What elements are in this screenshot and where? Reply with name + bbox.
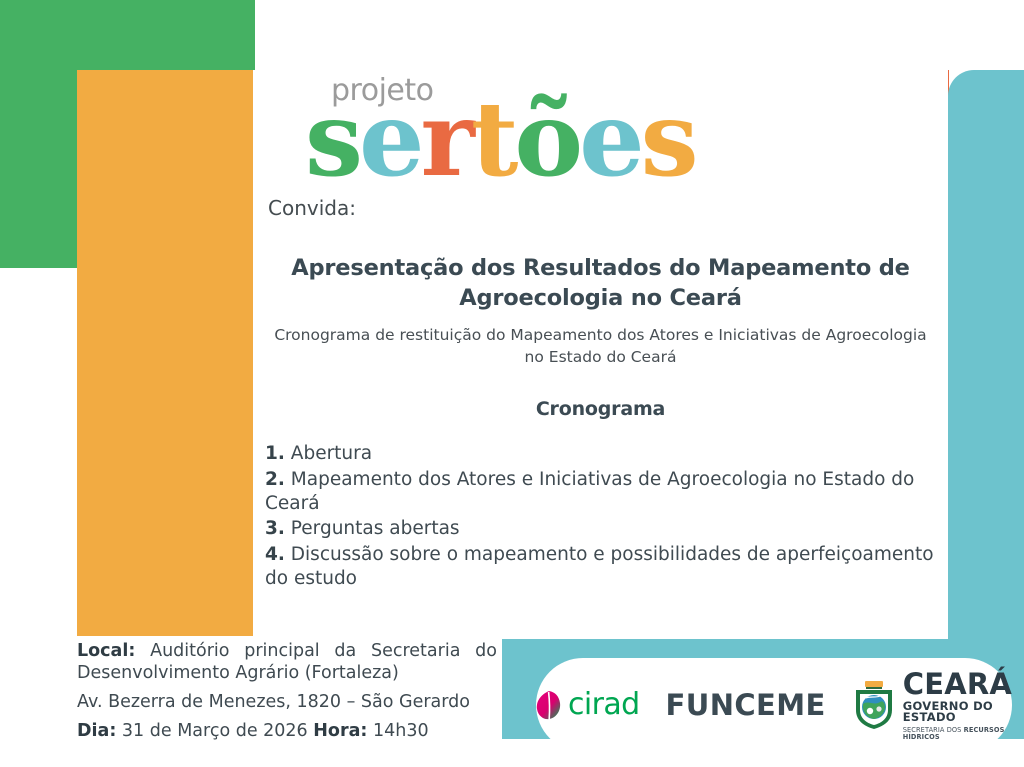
time-label: Hora: — [313, 721, 367, 741]
funceme-logo: FUNCEME — [666, 691, 826, 720]
cirad-logo: cirad — [536, 690, 640, 720]
cirad-leaf-icon — [536, 690, 562, 720]
address-value: Av. Bezerra de Menezes, 1820 – São Gerar… — [77, 692, 470, 712]
logo-letter-r: r — [421, 88, 471, 191]
logo-letter-t: t — [471, 88, 515, 191]
poster-body: Convida: Apresentação dos Resultados do … — [253, 196, 948, 593]
schedule-list: 1. Abertura 2. Mapeamento dos Atores e I… — [265, 442, 948, 591]
list-item-label: Mapeamento dos Atores e Iniciativas de A… — [265, 469, 914, 514]
date-label: Dia: — [77, 721, 116, 741]
ceara-government-label: GOVERNO DO ESTADO — [903, 701, 1012, 724]
partner-logos-card: cirad FUNCEME CEARÁ GOVERNO DO ESTADO SE… — [536, 658, 1012, 752]
logo-letter-e1: e — [359, 88, 421, 191]
venue-line: Local: Auditório principal da Secretaria… — [77, 640, 497, 684]
list-item: 2. Mapeamento dos Atores e Iniciativas d… — [265, 468, 948, 517]
logo-letter-otilde: õ — [514, 88, 579, 191]
list-item-label: Perguntas abertas — [291, 518, 460, 539]
cirad-wordmark: cirad — [568, 690, 640, 720]
event-poster: projeto sertões Convida: Apresentação do… — [0, 0, 1024, 767]
time-value: 14h30 — [373, 721, 429, 741]
list-item: 3. Perguntas abertas — [265, 517, 948, 541]
list-item-number: 2. — [265, 469, 285, 490]
list-item-label: Abertura — [291, 443, 372, 464]
logo-letter-e2: e — [579, 88, 641, 191]
list-item-number: 1. — [265, 443, 285, 464]
logo-sertoes-text: sertões — [305, 88, 695, 191]
page-subtitle: Cronograma de restituição do Mapeamento … — [269, 325, 932, 368]
list-item-number: 3. — [265, 518, 285, 539]
ceara-secretariat-label: SECRETARIA DOS RECURSOS HÍDRICOS — [903, 727, 1012, 740]
logo-letter-s1: s — [305, 88, 359, 191]
date-value: 31 de Março de 2026 — [122, 721, 308, 741]
logo-letter-s2: s — [641, 88, 695, 191]
project-logo: projeto sertões — [253, 4, 753, 194]
event-details: Local: Auditório principal da Secretaria… — [77, 640, 497, 749]
venue-value: Auditório principal da Secretaria do Des… — [77, 641, 497, 683]
list-item: 1. Abertura — [265, 442, 948, 466]
ceara-title: CEARÁ — [903, 670, 1012, 699]
list-item-number: 4. — [265, 544, 285, 565]
ceara-coat-of-arms-icon — [852, 680, 896, 730]
ceara-government-logo: CEARÁ GOVERNO DO ESTADO SECRETARIA DOS R… — [852, 670, 1012, 740]
decorative-block-teal-right — [948, 70, 1024, 650]
venue-label: Local: — [77, 641, 135, 661]
list-item: 4. Discussão sobre o mapeamento e possib… — [265, 543, 948, 592]
schedule-heading: Cronograma — [253, 398, 948, 420]
list-item-label: Discussão sobre o mapeamento e possibili… — [265, 544, 934, 589]
ceara-wordmark-group: CEARÁ GOVERNO DO ESTADO SECRETARIA DOS R… — [903, 670, 1012, 740]
decorative-block-orange — [77, 70, 253, 636]
address-line: Av. Bezerra de Menezes, 1820 – São Gerar… — [77, 691, 497, 713]
page-title: Apresentação dos Resultados do Mapeament… — [277, 254, 924, 313]
datetime-line: Dia: 31 de Março de 2026 Hora: 14h30 — [77, 720, 497, 742]
invitation-label: Convida: — [268, 196, 948, 220]
